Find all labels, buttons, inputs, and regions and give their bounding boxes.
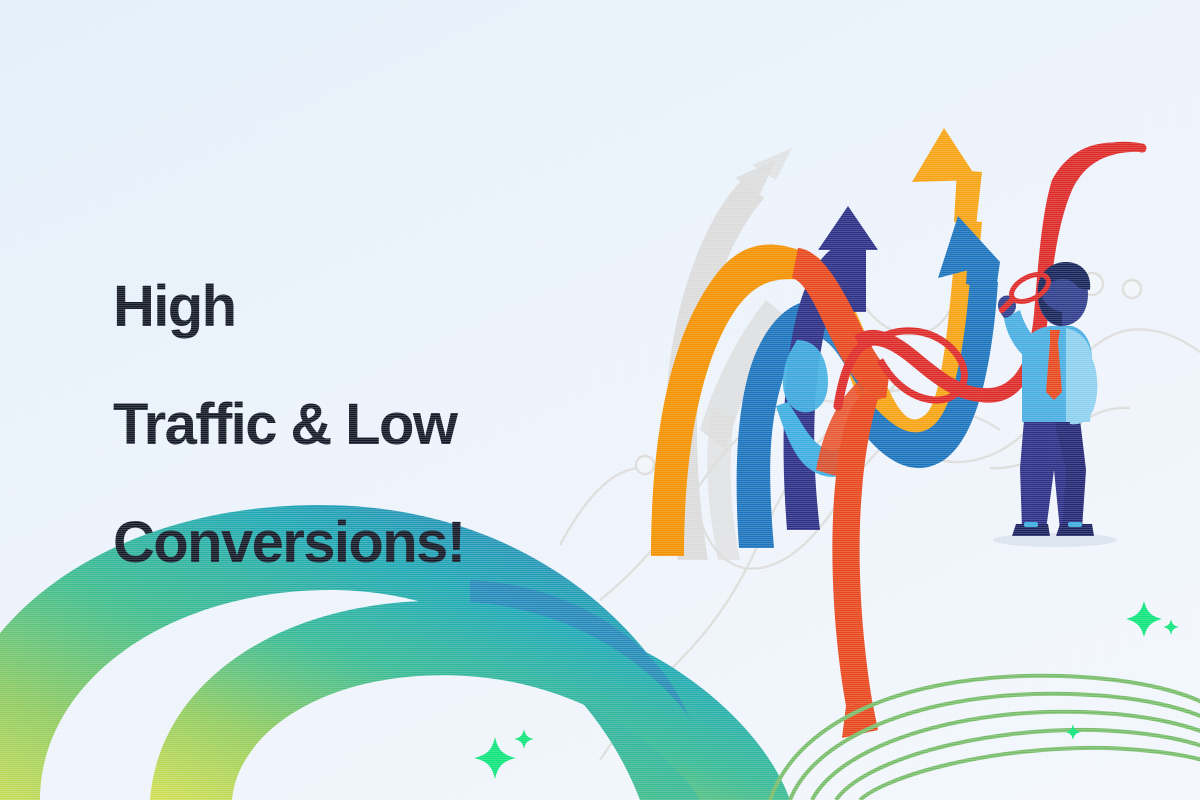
headline-line-2: Traffic & Low — [113, 395, 633, 454]
page-title: High Traffic & Low Conversions! — [113, 218, 633, 631]
sparkle-mid-right-tiny — [1065, 724, 1081, 740]
sparkle-bottom-right-small — [1163, 619, 1179, 635]
sparkle-bottom-left-small — [514, 729, 534, 749]
promo-banner: High Traffic & Low Conversions! — [0, 0, 1200, 800]
headline-line-1: High — [113, 277, 633, 336]
headline-line-3: Conversions! — [113, 513, 633, 572]
sparkle-bottom-left — [474, 737, 516, 779]
sparkle-bottom-right — [1126, 601, 1162, 637]
